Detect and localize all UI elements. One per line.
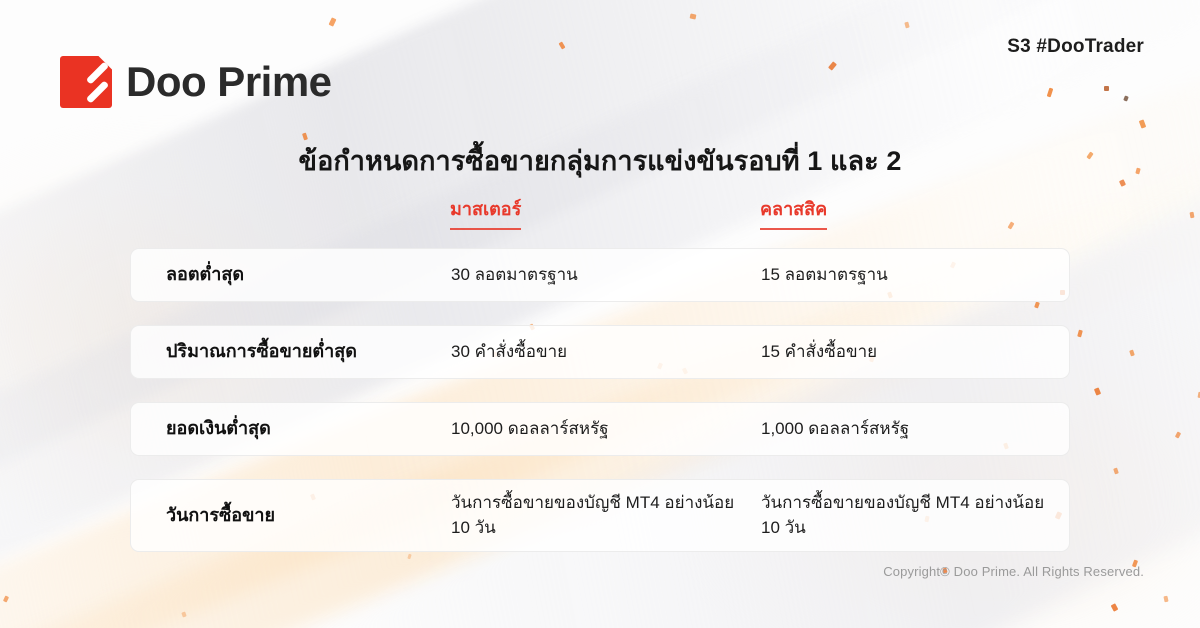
column-header-classic-label: คลาสสิค: [760, 199, 827, 219]
poster-canvas: Doo Prime S3 #DooTrader ข้อกำหนดการซื้อข…: [0, 0, 1200, 628]
row-master-value: 10,000 ดอลลาร์สหรัฐ: [451, 416, 761, 442]
row-classic-value: 15 คำสั่งซื้อขาย: [761, 339, 1071, 365]
row-criterion: ยอดเงินต่ำสุด: [131, 415, 451, 441]
row-master-value: 30 ลอตมาตรฐาน: [451, 262, 761, 288]
row-criterion: ลอตต่ำสุด: [131, 261, 451, 287]
confetti-flake: [559, 41, 566, 49]
row-classic-value: 1,000 ดอลลาร์สหรัฐ: [761, 416, 1071, 442]
table-row: ยอดเงินต่ำสุด 10,000 ดอลลาร์สหรัฐ 1,000 …: [130, 402, 1070, 456]
row-master-value: วันการซื้อขายของบัญชี MT4 อย่างน้อย 10 ว…: [451, 490, 761, 541]
brand-name: Doo Prime: [126, 58, 332, 106]
confetti-flake: [329, 17, 337, 26]
confetti-flake: [1190, 212, 1195, 219]
confetti-flake: [1129, 350, 1135, 357]
doo-prime-logo-mark-icon: [60, 56, 112, 108]
campaign-hashtag: S3 #DooTrader: [1007, 36, 1144, 58]
confetti-flake: [3, 595, 9, 602]
column-header-master-wrap: มาสเตอร์: [450, 194, 521, 235]
column-header-master-label: มาสเตอร์: [450, 199, 521, 219]
confetti-flake: [828, 61, 837, 70]
table-row: ปริมาณการซื้อขายต่ำสุด 30 คำสั่งซื้อขาย …: [130, 325, 1070, 379]
confetti-flake: [1077, 330, 1083, 338]
row-criterion: วันการซื้อขาย: [131, 502, 451, 528]
row-classic-value: วันการซื้อขายของบัญชี MT4 อย่างน้อย 10 ว…: [761, 490, 1071, 541]
copyright-text: Copyright© Doo Prime. All Rights Reserve…: [883, 564, 1144, 579]
confetti-flake: [181, 611, 186, 617]
rules-table: มาสเตอร์ คลาสสิค ลอตต่ำสุด 30 ลอตมาตรฐาน…: [130, 194, 1070, 575]
confetti-flake: [1163, 596, 1168, 603]
confetti-flake: [1113, 468, 1119, 475]
confetti-flake: [1104, 86, 1109, 91]
table-header-row: มาสเตอร์ คลาสสิค: [130, 194, 1070, 235]
confetti-flake: [1123, 95, 1129, 101]
confetti-flake: [1047, 88, 1054, 98]
brand-logo: Doo Prime: [60, 56, 332, 108]
confetti-flake: [1094, 387, 1101, 395]
confetti-flake: [1175, 431, 1181, 438]
table-header-master: มาสเตอร์: [450, 194, 760, 235]
column-header-master-underline: [450, 228, 521, 230]
row-criterion: ปริมาณการซื้อขายต่ำสุด: [131, 338, 451, 364]
row-classic-value: 15 ลอตมาตรฐาน: [761, 262, 1071, 288]
column-header-classic-wrap: คลาสสิค: [760, 194, 827, 235]
confetti-flake: [904, 22, 909, 29]
table-header-classic: คลาสสิค: [760, 194, 1070, 235]
column-header-classic-underline: [760, 228, 827, 230]
table-row: วันการซื้อขาย วันการซื้อขายของบัญชี MT4 …: [130, 479, 1070, 552]
confetti-flake: [1111, 603, 1119, 612]
row-master-value: 30 คำสั่งซื้อขาย: [451, 339, 761, 365]
table-row: ลอตต่ำสุด 30 ลอตมาตรฐาน 15 ลอตมาตรฐาน: [130, 248, 1070, 302]
table-header-criterion: [130, 194, 450, 235]
page-title: ข้อกำหนดการซื้อขายกลุ่มการแข่งขันรอบที่ …: [0, 139, 1200, 182]
confetti-flake: [1139, 119, 1146, 128]
confetti-flake: [690, 13, 697, 19]
